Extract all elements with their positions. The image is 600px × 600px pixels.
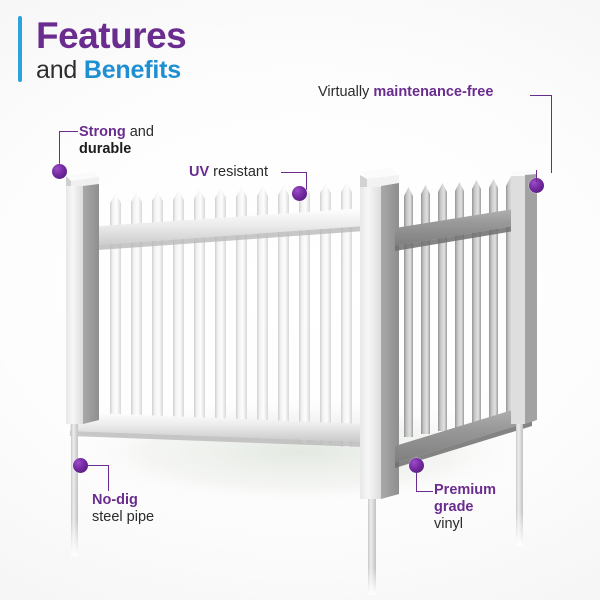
leader-line-strong-h	[59, 131, 78, 132]
leader-line-premium-v	[416, 472, 417, 492]
callout-dot-premium-grade[interactable]	[409, 458, 424, 473]
callout-maintenance-free-plain: Virtually	[318, 84, 373, 100]
fence-illustration	[0, 0, 600, 600]
callout-grade-bold: grade	[434, 499, 474, 515]
leader-line-uv-h	[281, 172, 307, 173]
callout-steel-pipe-plain: steel pipe	[92, 509, 154, 525]
callout-premium-bold: Premium	[434, 482, 496, 498]
leader-line-maintenance-free-v	[551, 95, 552, 173]
callout-strong-plain: and	[126, 124, 154, 140]
diagram-canvas: Features and Benefits	[0, 0, 600, 600]
callout-no-dig-steel-pipe: No-dig steel pipe	[92, 492, 154, 526]
callout-strong-bold: Strong	[79, 124, 126, 140]
callout-dot-uv-resistant[interactable]	[292, 186, 307, 201]
leader-line-no-dig-h	[88, 465, 109, 466]
callout-no-dig-bold: No-dig	[92, 492, 138, 508]
fence-post-corner	[360, 168, 399, 595]
leader-line-no-dig-v	[108, 465, 109, 491]
leader-line-strong-v	[59, 131, 60, 165]
callout-durable-bold: durable	[79, 141, 131, 157]
fence-post-right	[511, 170, 537, 546]
leader-line-maintenance-free-h	[530, 95, 552, 96]
callout-strong-durable: Strong and durable	[79, 124, 154, 158]
leader-line-uv-v	[306, 172, 307, 190]
callout-maintenance-free-bold: maintenance-free	[373, 84, 493, 100]
fence-panel-left	[70, 182, 365, 447]
leader-line-maintenance-free-tail	[536, 170, 537, 182]
callout-dot-strong-durable[interactable]	[52, 164, 67, 179]
callout-uv-bold: UV	[189, 164, 209, 180]
leader-line-premium-h	[416, 491, 433, 492]
callout-uv-resistant: UV resistant	[189, 164, 268, 181]
callout-dot-no-dig[interactable]	[73, 458, 88, 473]
callout-maintenance-free: Virtually maintenance-free	[318, 84, 493, 101]
callout-vinyl-plain: vinyl	[434, 516, 463, 532]
callout-uv-plain: resistant	[209, 164, 268, 180]
callout-premium-grade-vinyl: Premium grade vinyl	[434, 482, 496, 533]
